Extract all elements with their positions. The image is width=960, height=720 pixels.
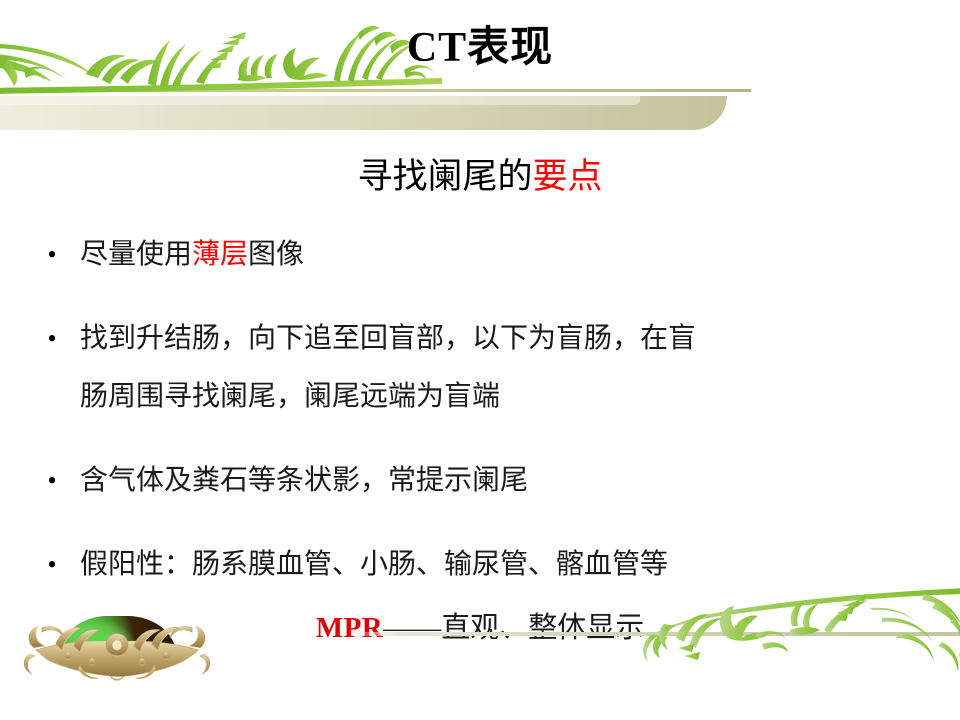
bullet-marker-icon: •	[45, 310, 59, 368]
list-item-text: 含气体及粪石等条状影，常提示阑尾	[80, 452, 924, 510]
bullet-marker-icon: •	[45, 452, 59, 510]
list-item-text-pre: 尽量使用	[80, 239, 192, 270]
list-item-line-1: 找到升结肠，向下追至回盲部，以下为盲肠，在盲	[80, 310, 924, 368]
list-item-text-highlight: 薄层	[192, 239, 248, 270]
list-item-text-post: 图像	[248, 239, 304, 270]
section-heading: 寻找阑尾的要点	[0, 148, 960, 199]
list-item: • 含气体及粪石等条状影，常提示阑尾	[36, 452, 924, 510]
list-item-line-2: 肠周围寻找阑尾，阑尾远端为盲端	[80, 368, 924, 426]
footer-note-rest: ——直观、整体显示	[383, 612, 644, 644]
list-item: • 尽量使用薄层图像	[36, 226, 924, 284]
slide-canvas: CT表现 寻找阑尾的要点 • 尽量使用薄层图像 • 找到升结肠，向下追至回盲部，…	[0, 0, 960, 720]
slide-title: CT表现	[0, 22, 960, 75]
floral-flourish-bottom-right-icon	[636, 582, 960, 678]
gold-ornament-bottom-left-icon	[22, 598, 212, 684]
bullet-marker-icon: •	[45, 536, 59, 594]
footer-note-label: MPR	[316, 612, 384, 644]
header-band-highlight	[0, 96, 640, 105]
section-heading-plain: 寻找阑尾的	[357, 157, 532, 196]
section-heading-highlight: 要点	[533, 157, 603, 196]
bullet-marker-icon: •	[45, 226, 59, 284]
slide-header: CT表现	[0, 0, 960, 130]
list-item: • 找到升结肠，向下追至回盲部，以下为盲肠，在盲 肠周围寻找阑尾，阑尾远端为盲端	[36, 310, 924, 426]
bullet-list: • 尽量使用薄层图像 • 找到升结肠，向下追至回盲部，以下为盲肠，在盲 肠周围寻…	[36, 226, 924, 620]
list-item-text: 尽量使用薄层图像	[80, 226, 924, 284]
